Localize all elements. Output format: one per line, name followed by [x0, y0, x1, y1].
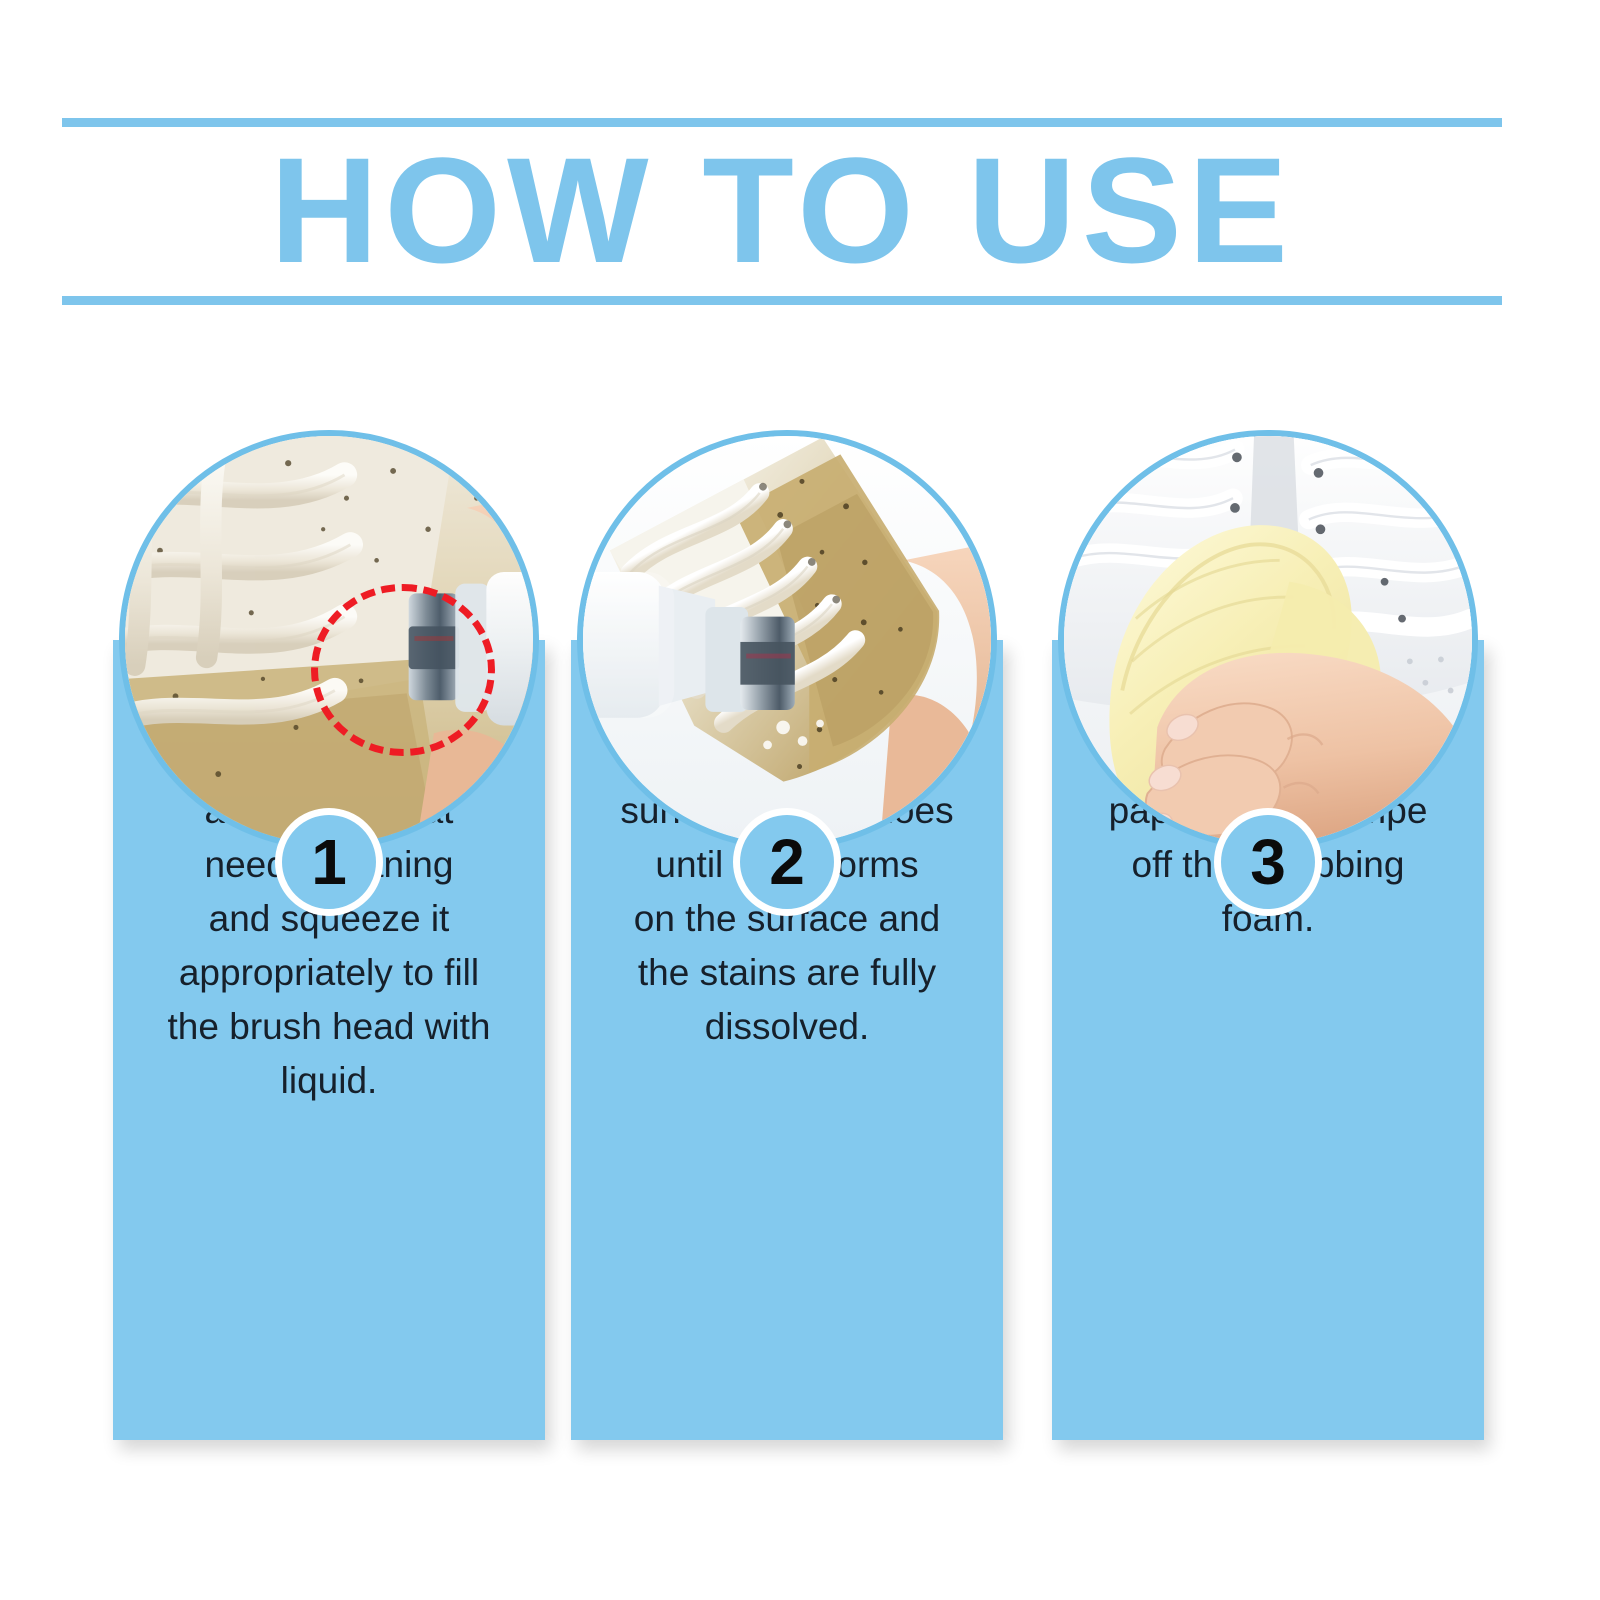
step-photo-2	[577, 430, 997, 850]
step-photo-2-image	[583, 436, 991, 844]
page-title: HOW TO USE	[62, 124, 1502, 296]
step-card-1: 1 Aim the brush head at the area that ne…	[113, 430, 545, 1440]
steps-row: 1 Aim the brush head at the area that ne…	[113, 430, 1487, 1440]
step-badge-3: 3	[1214, 808, 1322, 916]
step-photo-3-image	[1064, 436, 1472, 844]
step-badge-1: 1	[275, 808, 383, 916]
step-photo-3	[1058, 430, 1478, 850]
step-card-2: 2 Gently scrub the surface of the shoes …	[571, 430, 1003, 1440]
step-badge-2: 2	[733, 808, 841, 916]
step-number-3: 3	[1250, 830, 1286, 894]
step-card-3: 3 Use a clean cloth or paper towel to wi…	[1052, 430, 1484, 1440]
step-number-2: 2	[769, 830, 805, 894]
step-photo-1	[119, 430, 539, 850]
header: HOW TO USE	[62, 118, 1502, 308]
wiping-cloth-illustration	[1064, 436, 1472, 844]
red-dashed-highlight-circle	[311, 584, 495, 756]
header-rule-bottom	[62, 296, 1502, 305]
step-number-1: 1	[311, 830, 347, 894]
infographic-page: HOW TO USE	[0, 0, 1600, 1600]
scrubbing-shoe-illustration	[583, 436, 991, 844]
